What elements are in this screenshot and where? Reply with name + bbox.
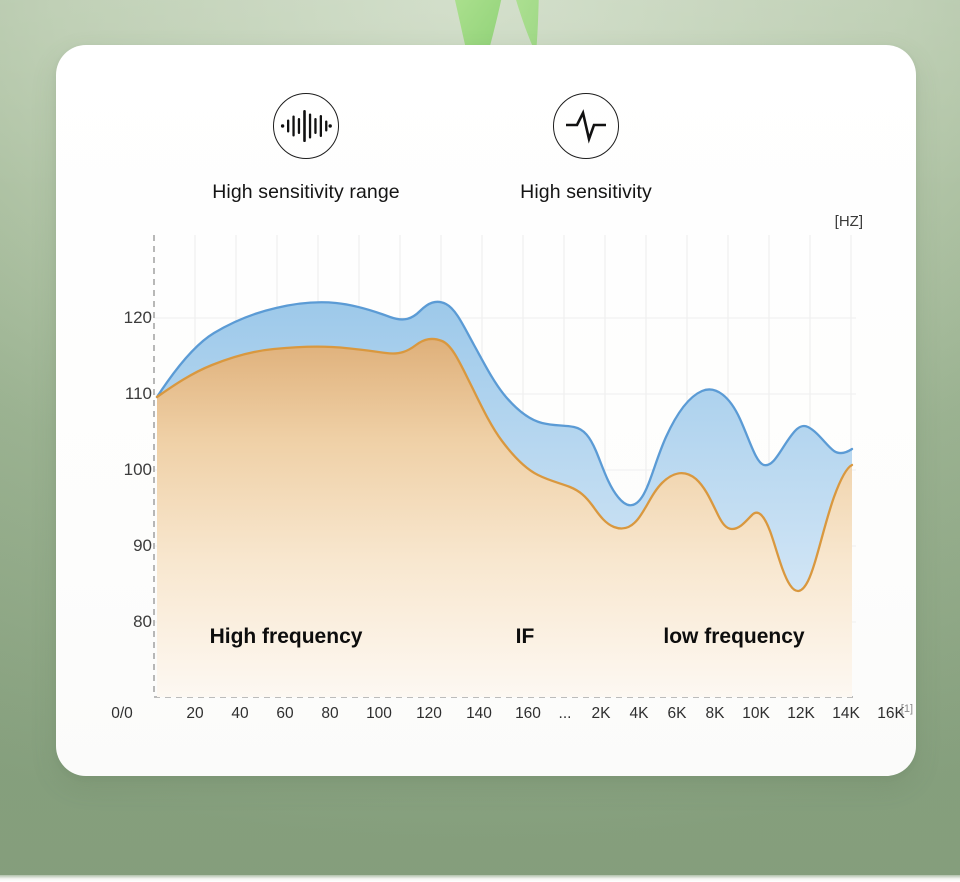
x-tick: 160: [515, 705, 541, 723]
bottom-strip: [0, 875, 960, 882]
x-tick: 120: [416, 705, 442, 723]
x-tick: 4K: [630, 705, 649, 723]
x-tick: 80: [321, 705, 338, 723]
frequency-response-chart: [HZ]: [56, 45, 916, 776]
x-tick: 12K: [787, 705, 815, 723]
chart-plot-area: [56, 45, 916, 776]
spec-card: High sensitivity range High sensitivity …: [56, 45, 916, 776]
x-tick: 0/0: [111, 705, 133, 723]
band-label-high-frequency: High frequency: [210, 625, 363, 649]
y-tick: 120: [98, 308, 152, 328]
x-tick: 60: [276, 705, 293, 723]
reference-marker: [1]: [901, 703, 913, 715]
x-tick: 140: [466, 705, 492, 723]
band-label-low-frequency: low frequency: [663, 625, 804, 649]
y-tick: 100: [98, 460, 152, 480]
x-tick: 20: [186, 705, 203, 723]
x-tick: 10K: [742, 705, 770, 723]
x-tick: 40: [231, 705, 248, 723]
x-tick: 8K: [706, 705, 725, 723]
y-axis-labels: 120 110 100 90 80: [88, 45, 152, 776]
x-tick: 14K: [832, 705, 860, 723]
x-tick-ellipsis: ...: [559, 705, 572, 723]
x-tick: 2K: [592, 705, 611, 723]
x-axis-labels: 0/0 20 40 60 80 100 120 140 160 ... 2K 4…: [56, 705, 916, 731]
x-tick: 100: [366, 705, 392, 723]
y-tick: 110: [98, 384, 152, 404]
y-tick: 90: [98, 536, 152, 556]
x-tick: 6K: [668, 705, 687, 723]
band-annotations: High frequency IF low frequency: [56, 625, 916, 655]
band-label-if: IF: [516, 625, 535, 649]
